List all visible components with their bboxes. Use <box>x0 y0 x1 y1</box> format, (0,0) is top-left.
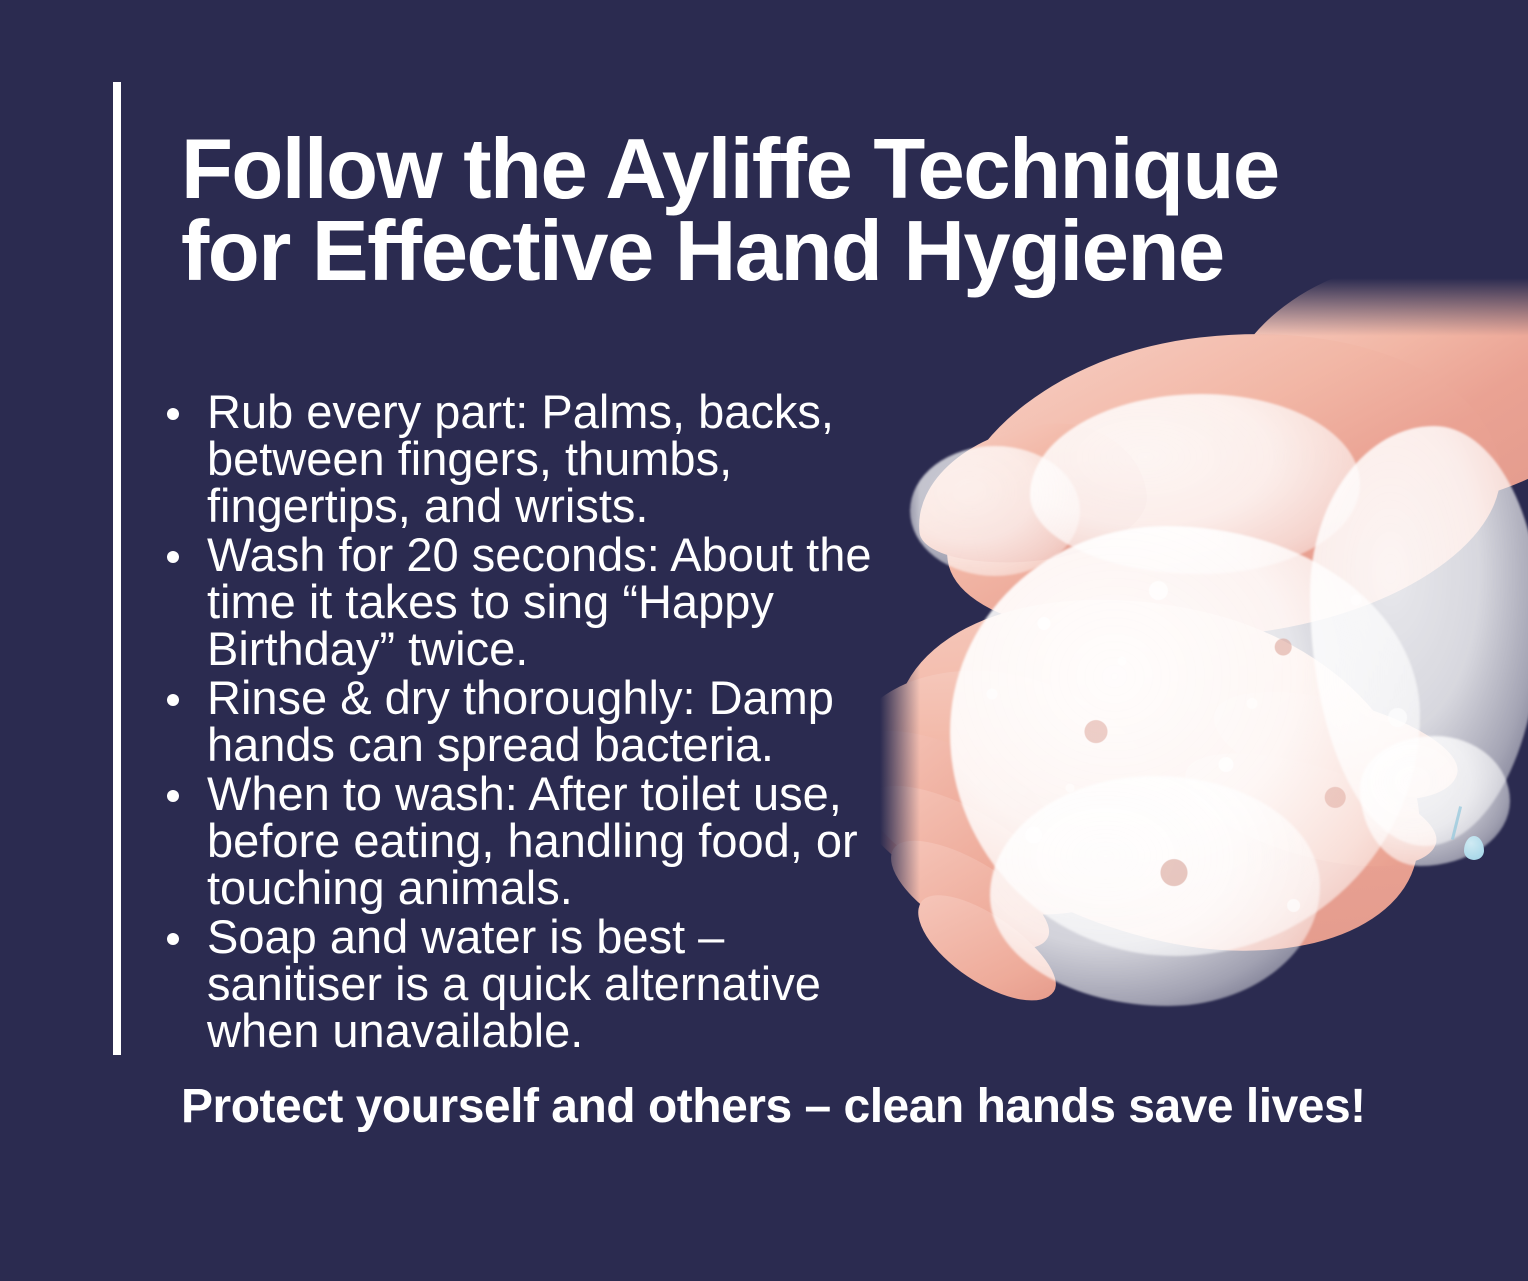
water-droplet-trail <box>1451 806 1462 840</box>
list-item: Soap and water is best – sanitiser is a … <box>155 913 895 1054</box>
bullet-dot-icon <box>167 408 179 420</box>
soap-foam-shape <box>950 526 1420 956</box>
soap-foam-shape <box>1310 426 1528 846</box>
hand-hygiene-poster: Follow the Ayliffe Technique for Effecti… <box>0 0 1528 1281</box>
finger-shape <box>880 766 1056 914</box>
hand-hygiene-tips-list: Rub every part: Palms, backs, between fi… <box>155 388 895 1056</box>
list-item-text: Wash for 20 seconds: About the time it t… <box>207 528 872 675</box>
list-item: Rinse & dry thoroughly: Damp hands can s… <box>155 674 895 768</box>
list-item: When to wash: After toilet use, before e… <box>155 770 895 911</box>
vertical-accent-rule <box>113 82 121 1055</box>
upper-hand-back-shape <box>922 298 1518 673</box>
list-item-text: Rub every part: Palms, backs, between fi… <box>207 385 834 532</box>
upper-hand-thumb-shape <box>910 414 1153 572</box>
soap-foam-shape <box>910 446 1080 576</box>
soap-foam-shape <box>1360 736 1510 866</box>
bullet-dot-icon <box>167 933 179 945</box>
bullet-dot-icon <box>167 790 179 802</box>
finger-shape <box>1173 732 1448 890</box>
list-item-text: Rinse & dry thoroughly: Damp hands can s… <box>207 671 834 771</box>
call-to-action-text: Protect yourself and others – clean hand… <box>181 1082 1411 1133</box>
list-item: Rub every part: Palms, backs, between fi… <box>155 388 895 529</box>
soap-foam-shape <box>1030 394 1360 574</box>
list-item-text: When to wash: After toilet use, before e… <box>207 767 858 914</box>
water-droplet-icon <box>1464 836 1484 860</box>
lower-hand-palm-shape <box>880 546 1462 997</box>
hand-forearm-shape <box>1189 276 1528 549</box>
page-title: Follow the Ayliffe Technique for Effecti… <box>181 129 1361 294</box>
list-item: Wash for 20 seconds: About the time it t… <box>155 531 895 672</box>
finger-shape <box>880 711 1057 855</box>
bullet-dot-icon <box>167 694 179 706</box>
lower-hand-knuckles-shape <box>880 631 1197 952</box>
list-item-text: Soap and water is best – sanitiser is a … <box>207 910 821 1057</box>
soapy-hands-photo <box>880 276 1528 1066</box>
finger-shape <box>901 877 1071 1021</box>
photo-edge-fade <box>880 276 1528 1066</box>
finger-shape <box>880 821 1064 971</box>
soap-bubbles-texture <box>940 506 1460 976</box>
finger-shape <box>1203 672 1468 822</box>
soap-foam-shape <box>990 776 1320 1006</box>
bullet-dot-icon <box>167 551 179 563</box>
